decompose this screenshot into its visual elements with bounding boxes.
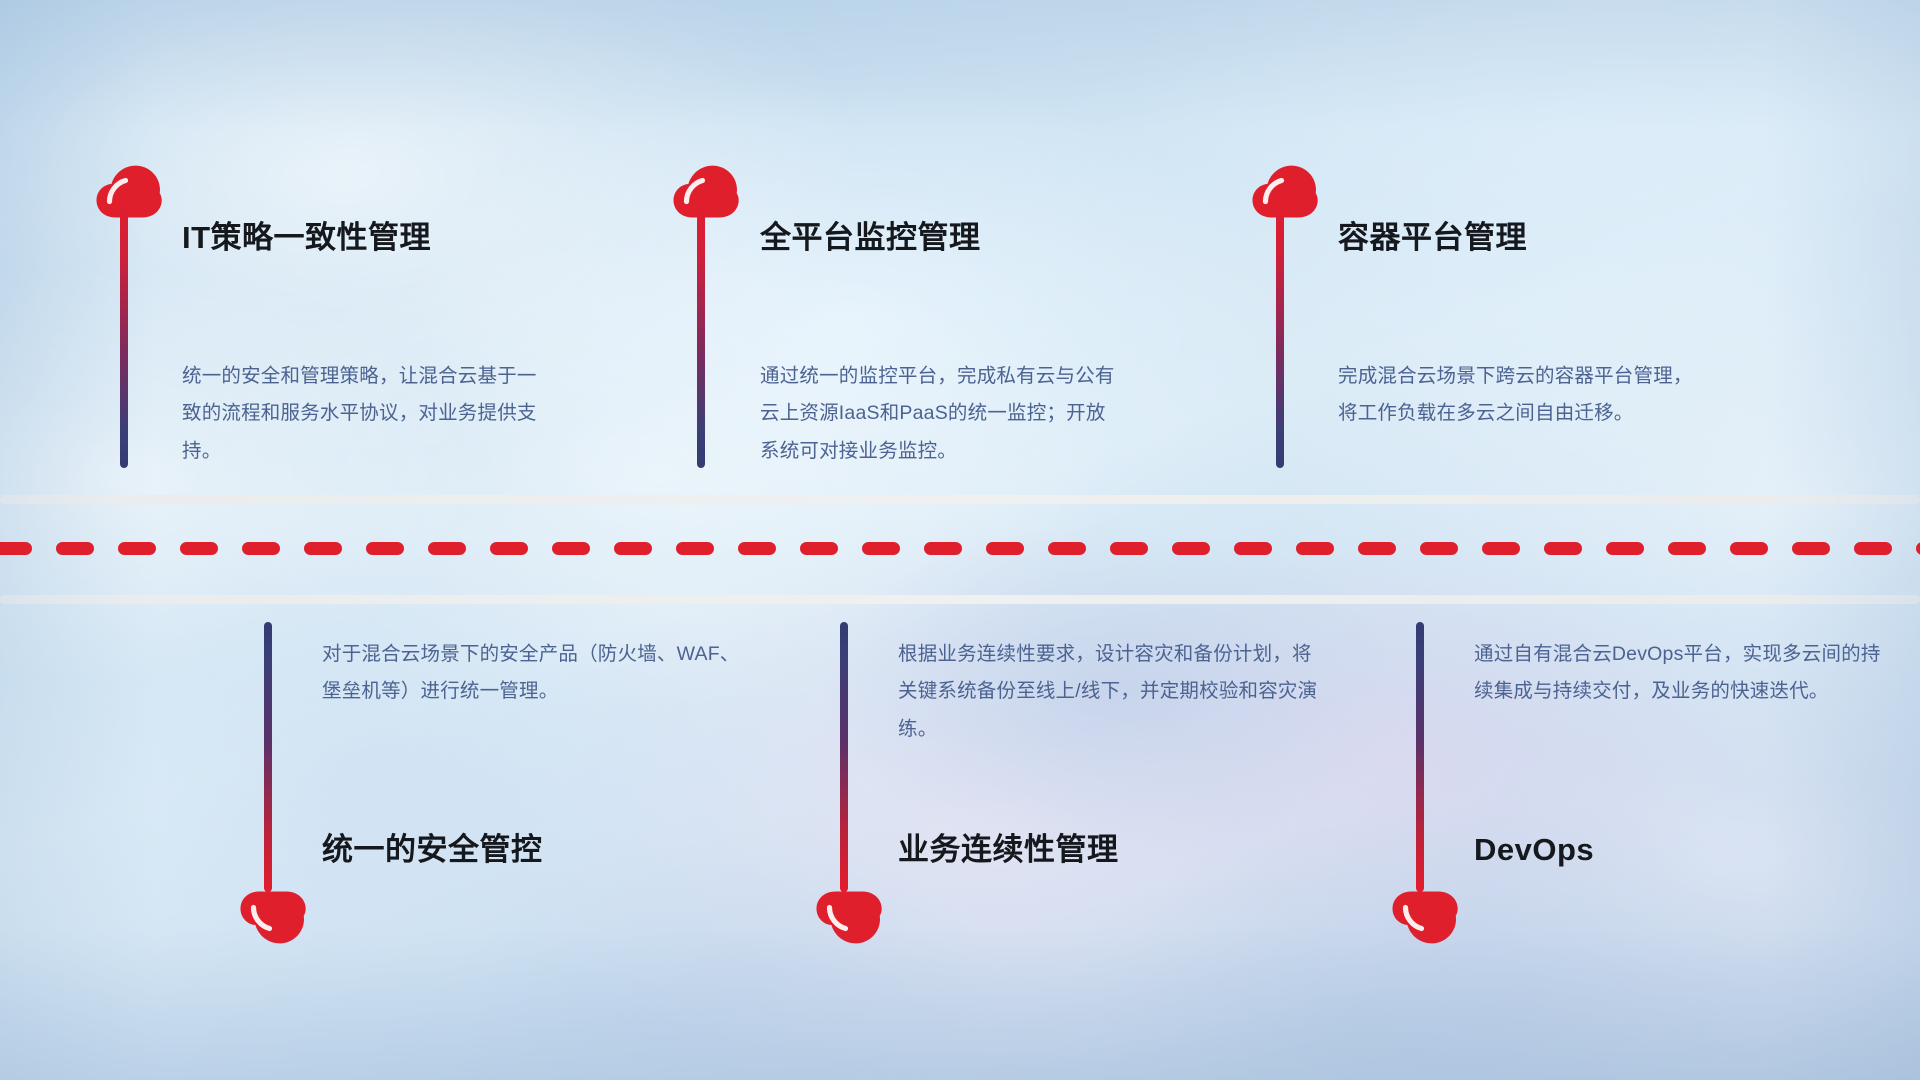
card-description: 通过自有混合云DevOps平台，实现多云间的持续集成与持续交付，及业务的快速迭代… bbox=[1474, 636, 1894, 711]
divider-rule-top bbox=[0, 495, 1920, 504]
card-description: 统一的安全和管理策略，让混合云基于一致的流程和服务水平协议，对业务提供支持。 bbox=[182, 358, 537, 470]
card-stem bbox=[120, 196, 128, 468]
cloud-icon bbox=[1251, 163, 1319, 219]
divider-dash bbox=[1110, 542, 1148, 555]
divider-dash bbox=[56, 542, 94, 555]
divider-dash bbox=[1544, 542, 1582, 555]
divider-dash bbox=[614, 542, 652, 555]
divider-dash bbox=[428, 542, 466, 555]
divider-dash bbox=[924, 542, 962, 555]
divider-dash bbox=[552, 542, 590, 555]
divider-dash bbox=[1606, 542, 1644, 555]
card-title: DevOps bbox=[1474, 834, 1594, 865]
divider-dash bbox=[1296, 542, 1334, 555]
card-description: 通过统一的监控平台，完成私有云与公有云上资源IaaS和PaaS的统一监控；开放系… bbox=[760, 358, 1115, 470]
divider-dash bbox=[1730, 542, 1768, 555]
divider-dash bbox=[0, 542, 32, 555]
card-description: 对于混合云场景下的安全产品（防火墙、WAF、堡垒机等）进行统一管理。 bbox=[322, 636, 742, 711]
divider-dash bbox=[490, 542, 528, 555]
divider-dash bbox=[1668, 542, 1706, 555]
cloud-icon bbox=[239, 890, 307, 946]
card-description: 根据业务连续性要求，设计容灾和备份计划，将关键系统备份至线上/线下，并定期校验和… bbox=[898, 636, 1318, 748]
divider-dash bbox=[862, 542, 900, 555]
divider-dash bbox=[1916, 542, 1920, 555]
divider-rule-bottom bbox=[0, 595, 1920, 604]
card-stem bbox=[1276, 196, 1284, 468]
card-description: 完成混合云场景下跨云的容器平台管理，将工作负载在多云之间自由迁移。 bbox=[1338, 358, 1693, 433]
divider-dash bbox=[1048, 542, 1086, 555]
divider-dash bbox=[738, 542, 776, 555]
divider-dash bbox=[676, 542, 714, 555]
cloud-icon bbox=[1391, 890, 1459, 946]
divider-dash bbox=[242, 542, 280, 555]
divider-dash bbox=[1358, 542, 1396, 555]
divider-dash bbox=[1420, 542, 1458, 555]
divider-dash bbox=[1792, 542, 1830, 555]
card-title: 统一的安全管控 bbox=[322, 834, 543, 865]
card-stem bbox=[697, 196, 705, 468]
divider-dash bbox=[366, 542, 404, 555]
card-title: 业务连续性管理 bbox=[898, 834, 1119, 865]
cloud-icon bbox=[815, 890, 883, 946]
divider-dash bbox=[986, 542, 1024, 555]
divider-dash bbox=[118, 542, 156, 555]
card-title: IT策略一致性管理 bbox=[182, 222, 431, 253]
card-stem bbox=[840, 622, 848, 892]
divider-dashed-line bbox=[0, 542, 1920, 555]
card-stem bbox=[264, 622, 272, 892]
divider-dash bbox=[1854, 542, 1892, 555]
cloud-icon bbox=[95, 163, 163, 219]
card-stem bbox=[1416, 622, 1424, 892]
card-title: 容器平台管理 bbox=[1338, 222, 1527, 253]
cloud-icon bbox=[672, 163, 740, 219]
divider-dash bbox=[180, 542, 218, 555]
divider-dash bbox=[304, 542, 342, 555]
divider-dash bbox=[1172, 542, 1210, 555]
infographic-canvas: IT策略一致性管理 统一的安全和管理策略，让混合云基于一致的流程和服务水平协议，… bbox=[0, 0, 1920, 1080]
divider-dash bbox=[1234, 542, 1272, 555]
divider-dash bbox=[1482, 542, 1520, 555]
card-title: 全平台监控管理 bbox=[760, 222, 981, 253]
divider-dash bbox=[800, 542, 838, 555]
hybrid-cloud-divider bbox=[0, 484, 1920, 610]
